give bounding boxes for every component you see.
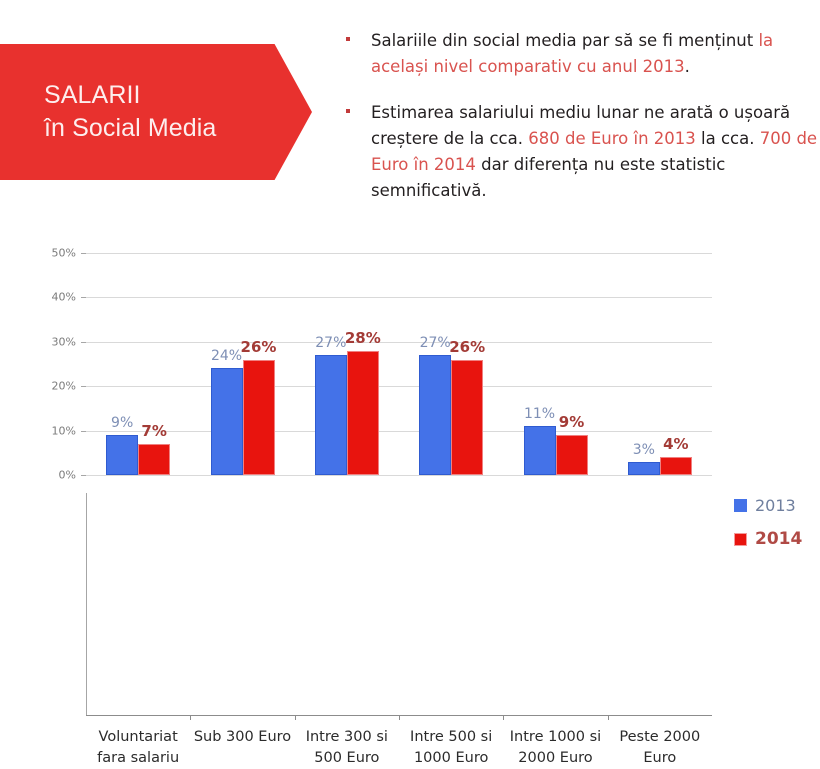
bullet-1-text-plain-2: .	[685, 57, 690, 76]
x-axis-tick	[295, 715, 296, 720]
legend-label-2014: 2014	[755, 529, 802, 549]
bullet-2-text-highlight-1: 680 de Euro în 2013	[528, 129, 696, 148]
bullet-dot-icon	[346, 37, 350, 41]
bullet-dot-icon	[346, 109, 350, 113]
x-axis-category-line: fara salariu	[82, 748, 194, 769]
chart-legend: 2013 2014	[734, 496, 802, 563]
x-axis-category-label: Intre 1000 si2000 Euro	[500, 727, 612, 769]
x-axis-category-label: Sub 300 Euro	[187, 727, 299, 748]
bar-2013-3[interactable]	[419, 355, 451, 475]
x-axis-tick	[190, 715, 191, 720]
bar-value-label: 9%	[549, 413, 595, 431]
y-axis-tick-label: 20%	[30, 380, 76, 393]
x-axis-category-line: 500 Euro	[291, 748, 403, 769]
legend-swatch-icon	[734, 499, 747, 512]
x-axis-tick	[399, 715, 400, 720]
x-axis-category-line: Intre 1000 si	[500, 727, 612, 748]
bar-value-label: 4%	[653, 435, 699, 453]
x-axis-category-line: Intre 500 si	[395, 727, 507, 748]
x-axis-category-line: Peste 2000	[604, 727, 716, 748]
bar-2013-4[interactable]	[524, 426, 556, 475]
x-axis-category-label: Intre 500 si1000 Euro	[395, 727, 507, 769]
bar-2014-1[interactable]	[243, 360, 275, 475]
bar-value-label: 28%	[340, 329, 386, 347]
y-axis-tick-label: 40%	[30, 291, 76, 304]
y-axis-tick-label: 50%	[30, 247, 76, 260]
bullet-item-2: Estimarea salariului mediu lunar ne arat…	[338, 100, 818, 204]
x-axis-tick	[608, 715, 609, 720]
bar-2014-0[interactable]	[138, 444, 170, 475]
bar-value-label: 7%	[131, 422, 177, 440]
bar-2014-4[interactable]	[556, 435, 588, 475]
bullet-1-text-plain-1: Salariile din social media par să se fi …	[371, 31, 758, 50]
x-axis-category-line: 1000 Euro	[395, 748, 507, 769]
y-axis-tick-label: 30%	[30, 335, 76, 348]
bar-2014-3[interactable]	[451, 360, 483, 475]
x-axis-category-line: Voluntariat	[82, 727, 194, 748]
bar-value-label: 26%	[444, 338, 490, 356]
title-banner	[0, 44, 312, 180]
bar-2014-5[interactable]	[660, 457, 692, 475]
x-axis-category-line: Intre 300 si	[291, 727, 403, 748]
x-axis-category-label: Voluntariatfara salariu	[82, 727, 194, 769]
x-axis-category-label: Intre 300 si500 Euro	[291, 727, 403, 769]
chart-bars: 9%7%24%26%27%28%27%26%11%9%3%4%	[86, 240, 712, 547]
bar-2014-2[interactable]	[347, 351, 379, 475]
x-axis-category-line: 2000 Euro	[500, 748, 612, 769]
bullet-list: Salariile din social media par să se fi …	[338, 28, 818, 224]
legend-label-2013: 2013	[755, 496, 796, 515]
legend-item-2013[interactable]: 2013	[734, 496, 802, 515]
legend-item-2014[interactable]: 2014	[734, 529, 802, 549]
y-axis-labels: 50%40%30%20%10%0%	[30, 240, 76, 547]
x-axis-category-line: Sub 300 Euro	[187, 727, 299, 748]
bar-2013-5[interactable]	[628, 462, 660, 475]
bullet-item-1: Salariile din social media par să se fi …	[338, 28, 818, 80]
salary-bar-chart: 50%40%30%20%10%0% 9%7%24%26%27%28%27%26%…	[0, 240, 820, 547]
y-axis-tick-label: 10%	[30, 424, 76, 437]
legend-swatch-icon	[734, 533, 747, 546]
y-axis-tick-label: 0%	[30, 469, 76, 482]
x-axis-category-line: Euro	[604, 748, 716, 769]
bullet-2-text-plain-2: la cca.	[696, 129, 760, 148]
bar-2013-0[interactable]	[106, 435, 138, 475]
bar-2013-2[interactable]	[315, 355, 347, 475]
x-axis-category-label: Peste 2000Euro	[604, 727, 716, 769]
bar-value-label: 26%	[236, 338, 282, 356]
x-axis-tick	[503, 715, 504, 720]
bar-2013-1[interactable]	[211, 368, 243, 475]
